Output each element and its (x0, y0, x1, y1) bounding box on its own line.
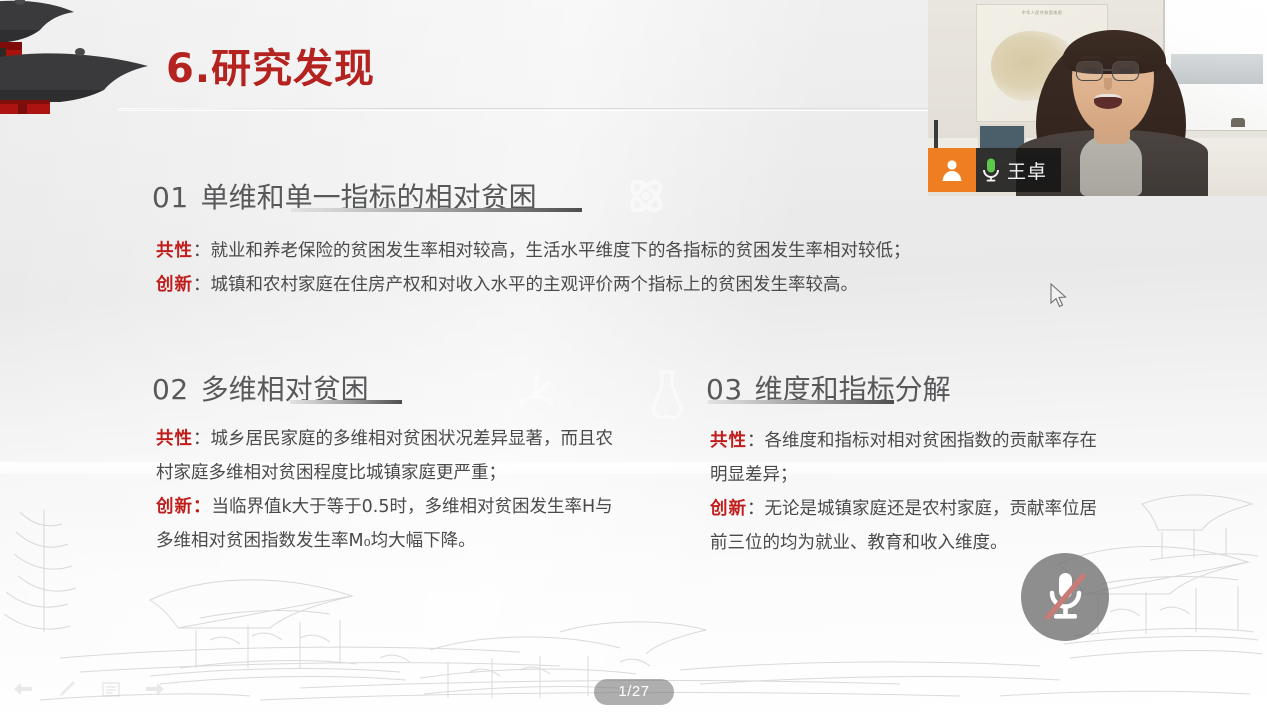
next-slide-icon[interactable] (144, 680, 166, 698)
separator: ： (747, 499, 765, 519)
glasses-lens-left (1076, 61, 1103, 81)
mouse-pointer (1049, 283, 1069, 309)
participant-name: 王卓 (1007, 157, 1047, 184)
molecule-icon (514, 372, 558, 416)
person-icon (939, 157, 965, 183)
section-02-line-1: 共性：城乡居民家庭的多维相对贫困状况差异显著，而且农村家庭多维相对贫困程度比城镇… (156, 422, 626, 490)
microphone-icon (982, 157, 1000, 183)
glasses-lens-right (1112, 61, 1139, 81)
slide-menu-icon[interactable] (100, 680, 122, 698)
section-02-body: 共性：城乡居民家庭的多维相对贫困状况差异显著，而且农村家庭多维相对贫困程度比城镇… (156, 422, 626, 558)
participant-video-tile[interactable]: 中华人民共和国地图 (928, 0, 1267, 196)
mic-muted-icon (1041, 569, 1089, 625)
section-02-text-2: 当临界值k大于等于0.5时，多维相对贫困发生率H与多维相对贫困指数发生率M₀均大… (156, 497, 613, 551)
eyebrow-right (1116, 56, 1136, 59)
separator: ： (193, 429, 211, 449)
presentation-screen-share: 匾 6.研究发现 (0, 0, 1267, 712)
section-02-number: 02 (152, 373, 189, 406)
label-innovation: 创新： (156, 497, 212, 517)
section-01-underline (291, 208, 582, 212)
participant-badge: 王卓 (928, 148, 1061, 192)
pen-icon[interactable] (56, 680, 78, 698)
section-02-underline (290, 400, 402, 404)
label-innovation: 创新 (156, 275, 193, 295)
map-caption: 中华人民共和国地图 (977, 10, 1107, 16)
avatar (928, 148, 976, 192)
previous-slide-icon[interactable] (12, 680, 34, 698)
atom-icon (624, 174, 668, 218)
section-03-underline (708, 400, 894, 404)
label-commonality: 共性 (156, 241, 193, 261)
section-01-text-2: 城镇和农村家庭在住房产权和对收入水平的主观评价两个指标上的贫困发生率较高。 (211, 275, 859, 295)
separator: ： (747, 431, 765, 451)
section-03-body: 共性：各维度和指标对相对贫困指数的贡献率存在明显差异； 创新：无论是城镇家庭还是… (710, 424, 1110, 560)
glasses-bridge (1102, 69, 1113, 71)
separator: ： (193, 241, 211, 261)
section-03-text-2: 无论是城镇家庭还是农村家庭，贡献率位居前三位的均为就业、教育和收入维度。 (710, 499, 1097, 553)
flask-icon (646, 368, 688, 420)
section-02-line-2: 创新：当临界值k大于等于0.5时，多维相对贫困发生率H与多维相对贫困指数发生率M… (156, 490, 626, 558)
section-01-line-2: 创新：城镇和农村家庭在住房产权和对收入水平的主观评价两个指标上的贫困发生率较高。 (156, 268, 1146, 302)
section-02-text-1: 城乡居民家庭的多维相对贫困状况差异显著，而且农村家庭多维相对贫困程度比城镇家庭更… (156, 429, 613, 483)
section-01-line-1: 共性：就业和养老保险的贫困发生率相对较高，生活水平维度下的各指标的贫困发生率相对… (156, 234, 1146, 268)
participant-name-box: 王卓 (976, 148, 1061, 192)
page-indicator[interactable]: 1/27 (594, 679, 674, 705)
page-title: 6.研究发现 (166, 36, 375, 94)
nose (1104, 78, 1112, 90)
section-03-line-2: 创新：无论是城镇家庭还是农村家庭，贡献率位居前三位的均为就业、教育和收入维度。 (710, 492, 1110, 560)
section-01-number: 01 (152, 181, 189, 214)
presenter-toolbar (12, 680, 166, 698)
label-commonality: 共性 (710, 431, 747, 451)
section-03-text-1: 各维度和指标对相对贫困指数的贡献率存在明显差异； (710, 431, 1097, 485)
desk-object (1231, 118, 1245, 127)
mouth (1094, 94, 1122, 109)
mute-microphone-button[interactable] (1021, 553, 1109, 641)
section-01-body: 共性：就业和养老保险的贫困发生率相对较高，生活水平维度下的各指标的贫困发生率相对… (156, 234, 1146, 302)
separator: ： (193, 275, 211, 295)
label-innovation: 创新 (710, 499, 747, 519)
eyebrow-left (1080, 56, 1100, 59)
section-01-text-1: 就业和养老保险的贫困发生率相对较高，生活水平维度下的各指标的贫困发生率相对较低； (211, 241, 911, 261)
section-03-line-1: 共性：各维度和指标对相对贫困指数的贡献率存在明显差异； (710, 424, 1110, 492)
label-commonality: 共性 (156, 429, 193, 449)
